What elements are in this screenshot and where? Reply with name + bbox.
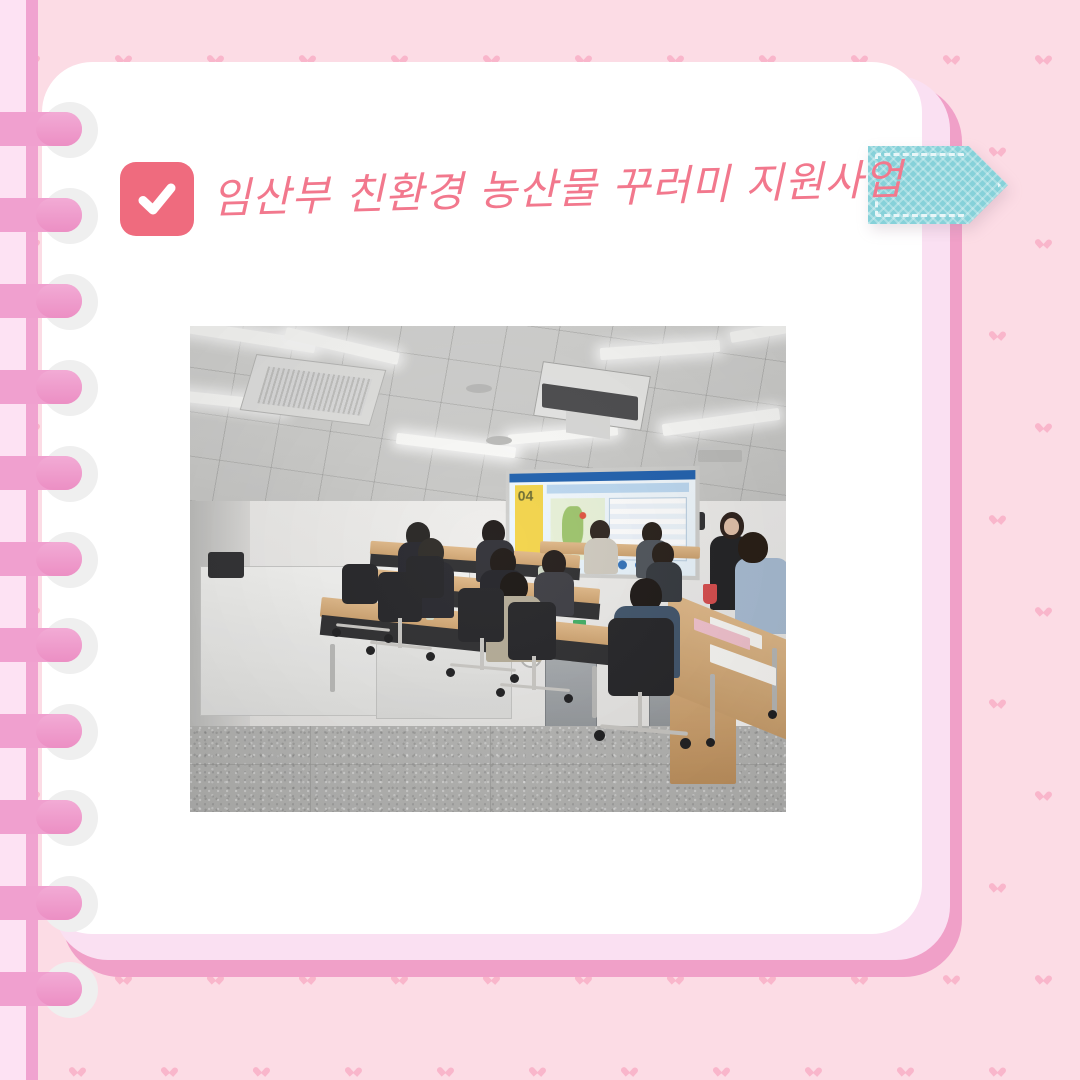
binding-ring [0, 886, 82, 920]
heart-icon [394, 52, 405, 62]
binding-ring [0, 628, 82, 662]
chair-caster [366, 646, 375, 655]
chair-caster [680, 738, 691, 749]
heart-icon [164, 1064, 175, 1074]
chair-back [458, 588, 504, 642]
presenter-face [724, 518, 739, 535]
heart-icon [486, 52, 497, 62]
binding-ring [0, 370, 82, 404]
wall-speaker [208, 552, 244, 578]
chair-caster [446, 668, 455, 677]
page-title: 임산부 친환경 농산물 꾸러미 지원사업 [211, 159, 904, 220]
binding-ring [0, 714, 82, 748]
chair-back [608, 618, 674, 696]
attendee-body [584, 538, 618, 574]
heart-icon [1038, 236, 1049, 246]
binding-ring [0, 800, 82, 834]
chair-caster [384, 634, 393, 643]
floor-seam [490, 726, 491, 812]
slide-number: 04 [518, 488, 534, 505]
binding-ring [0, 112, 82, 146]
heart-icon [992, 696, 1003, 706]
desk-leg [710, 674, 715, 742]
heart-icon [256, 1064, 267, 1074]
heart-icon [1038, 972, 1049, 982]
heart-icon [992, 328, 1003, 338]
heart-icon [946, 52, 957, 62]
chair-back [342, 564, 378, 604]
heart-icon [900, 1064, 911, 1074]
chair-caster [564, 694, 573, 703]
heart-icon [210, 52, 221, 62]
ceiling-vent [486, 436, 512, 445]
heart-icon [808, 1064, 819, 1074]
heart-icon [992, 880, 1003, 890]
binding-ring [0, 456, 82, 490]
ceiling-vent [466, 384, 492, 393]
desk-leg [592, 666, 597, 718]
heart-icon [440, 1064, 451, 1074]
ceiling-vent [698, 450, 742, 462]
heart-icon [578, 52, 589, 62]
binding-ring [0, 284, 82, 318]
desk-caster [768, 710, 777, 719]
slide-topbar [509, 470, 695, 482]
desk-caster [706, 738, 715, 747]
heart-icon [1038, 788, 1049, 798]
heart-icon [854, 52, 865, 62]
header-row: 임산부 친환경 농산물 꾸러미 지원사업 [120, 162, 904, 236]
heart-icon [1038, 604, 1049, 614]
heart-icon [624, 1064, 635, 1074]
heart-icon [762, 52, 773, 62]
chair-caster [496, 688, 505, 697]
spiral-binding [0, 0, 150, 1080]
chair-back [406, 556, 444, 598]
binding-ring [0, 542, 82, 576]
heart-icon [1038, 52, 1049, 62]
desk-leg [330, 644, 335, 692]
heart-icon [670, 52, 681, 62]
binding-ring [0, 198, 82, 232]
heart-icon [716, 1064, 727, 1074]
attendee-head [738, 532, 768, 563]
seminar-photo: 04 [190, 326, 786, 812]
chair-caster [332, 628, 341, 637]
heart-icon [302, 52, 313, 62]
heart-icon [532, 1064, 543, 1074]
photo-scene: 04 [190, 326, 786, 812]
heart-icon [1038, 420, 1049, 430]
slide-headband [547, 483, 689, 494]
chair-post [638, 692, 642, 732]
drink-cup [703, 584, 717, 604]
chair-caster [594, 730, 605, 741]
floor-seam [310, 726, 311, 812]
chair-caster [426, 652, 435, 661]
binding-ring [0, 972, 82, 1006]
chair-caster [510, 674, 519, 683]
chair-back [508, 602, 556, 660]
heart-icon [348, 1064, 359, 1074]
heart-icon [992, 1064, 1003, 1074]
heart-icon [992, 512, 1003, 522]
